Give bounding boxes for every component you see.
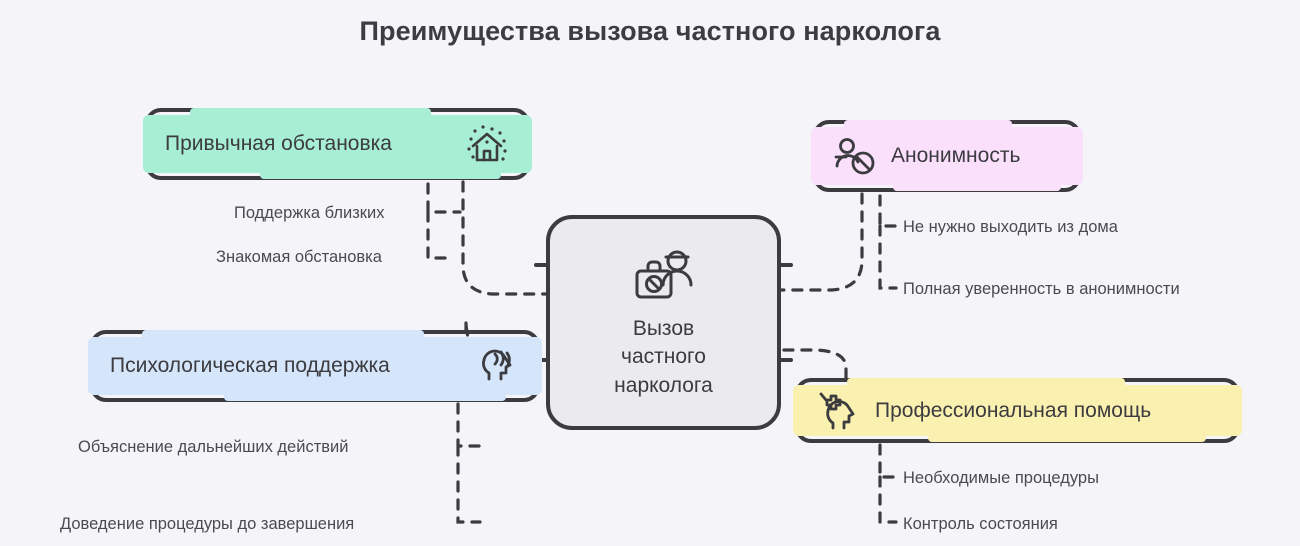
sub-label-anonymity-2: Полная уверенность в анонимности	[903, 280, 1180, 299]
central-node[interactable]: Вызов частного нарколога	[546, 215, 781, 430]
branch-label-professional: Профессиональная помощь	[875, 399, 1151, 423]
page-title: Преимущества вызова частного нарколога	[0, 16, 1300, 47]
central-line-2: частного	[614, 343, 713, 371]
head-with-medical-cross-icon	[815, 389, 861, 433]
link-prof-children	[880, 445, 898, 522]
central-line-1: Вызов	[614, 315, 713, 343]
branch-node-professional[interactable]: Профессиональная помощь	[795, 378, 1240, 443]
link-prof-to-center	[781, 350, 846, 378]
link-home-to-center	[463, 182, 546, 294]
sub-label-home-2: Знакомая обстановка	[216, 248, 382, 267]
central-line-3: нарколога	[614, 372, 713, 400]
branch-node-psychology[interactable]: Психологическая поддержка	[90, 330, 540, 402]
sub-label-professional-1: Необходимые процедуры	[903, 469, 1099, 488]
link-home-children	[428, 184, 460, 258]
sub-label-psychology-1: Объяснение дальнейших действий	[78, 438, 348, 457]
branch-label-psychology: Психологическая поддержка	[110, 354, 390, 378]
house-with-sparkles-icon	[464, 122, 510, 166]
anonymous-person-icon	[833, 135, 877, 177]
sub-label-psychology-2: Доведение процедуры до завершения	[60, 515, 354, 534]
link-psy-children	[458, 404, 486, 522]
head-with-brain-icon	[474, 344, 520, 388]
sub-label-home-1: Поддержка близких	[234, 204, 384, 223]
sub-label-professional-2: Контроль состояния	[903, 515, 1058, 534]
sub-label-anonymity-1: Не нужно выходить из дома	[903, 218, 1118, 237]
branch-label-anonymity: Анонимность	[891, 144, 1020, 168]
central-node-label: Вызов частного нарколога	[614, 315, 713, 400]
doctor-with-medical-bag-icon	[625, 245, 703, 307]
mindmap-canvas: Преимущества вызова частного нарколога	[0, 0, 1300, 546]
link-anon-to-center	[781, 194, 862, 290]
link-anon-children	[880, 196, 898, 288]
branch-label-home: Привычная обстановка	[165, 132, 392, 156]
branch-node-home[interactable]: Привычная обстановка	[145, 108, 530, 180]
branch-node-anonymity[interactable]: Анонимность	[813, 120, 1081, 192]
